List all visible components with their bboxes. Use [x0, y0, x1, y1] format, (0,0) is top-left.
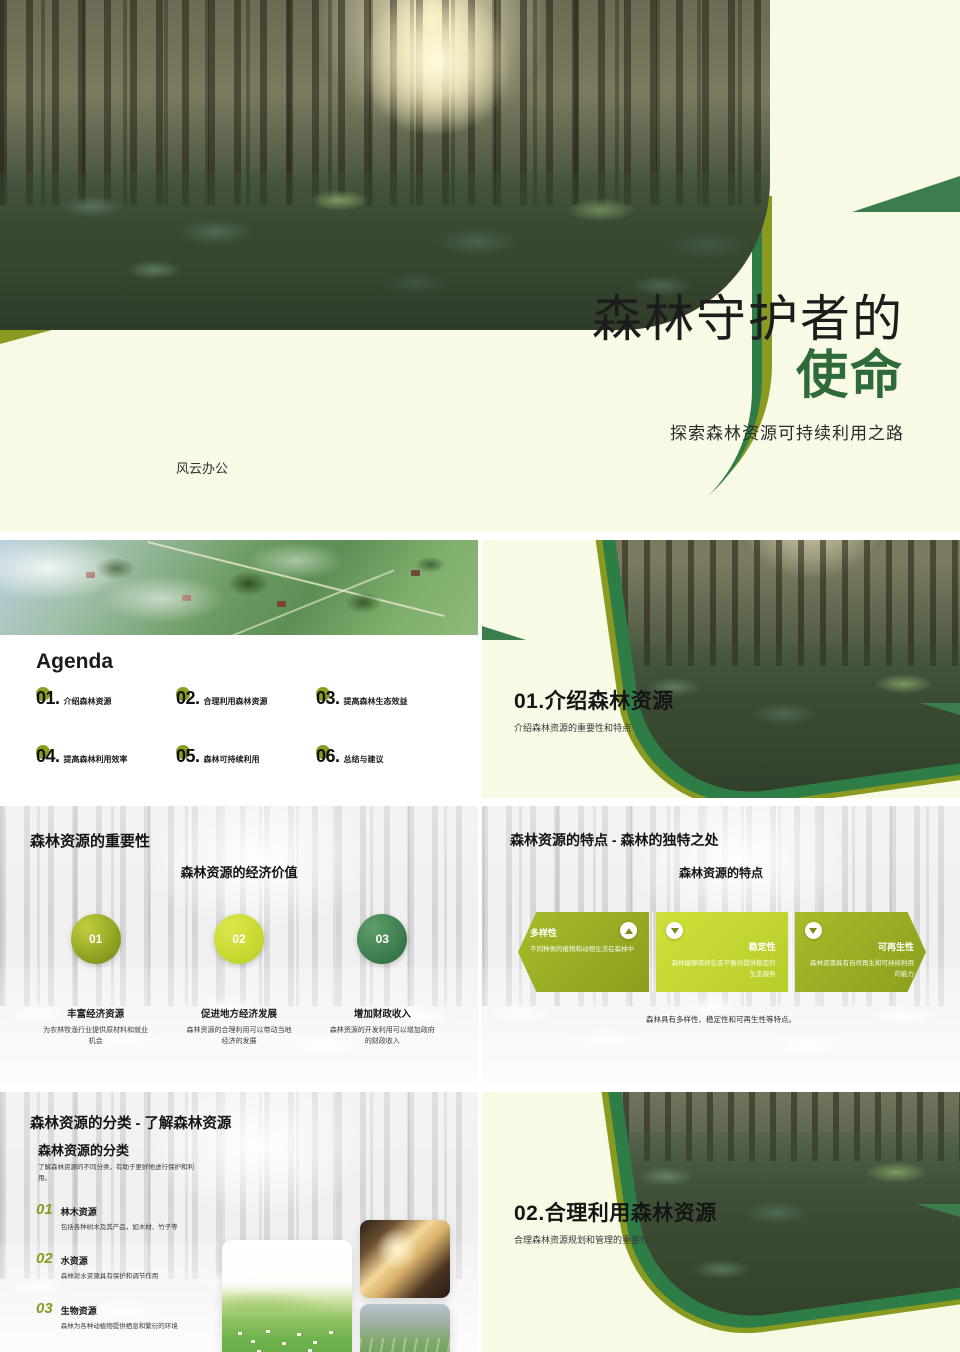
agenda-item-05[interactable]: 05. 森林可持续利用	[176, 746, 316, 767]
house-marker	[182, 595, 191, 601]
section-heading-block: 02.合理利用森林资源 合理森林资源规划和管理的重要性	[514, 1200, 734, 1246]
importance-card-01[interactable]: 01 丰富经济资源 为农林牧渔行业提供原材料和就业机会	[24, 914, 167, 1047]
agenda-item-number: 03.	[316, 688, 340, 709]
card-title: 增加财政收入	[311, 1006, 454, 1020]
chevron-title: 可再生性	[807, 940, 914, 953]
arrow-down-icon	[666, 922, 683, 939]
harvest-sunset-photo	[360, 1220, 450, 1298]
agenda-item-label: 总结与建议	[344, 754, 384, 765]
agenda-item-label: 提高森林生态效益	[344, 696, 408, 707]
classification-item-03[interactable]: 03 生物资源 森林为各种动植物提供栖息和繁衍的环境	[36, 1301, 226, 1332]
characteristics-chevron-row: 多样性 不同种类的植物和动物生活在森林中 稳定性 森林能够保持生态平衡并提供稳定…	[518, 912, 926, 992]
card-description: 为农林牧渔行业提供原材料和就业机会	[24, 1025, 167, 1047]
classification-item-01[interactable]: 01 林木资源 包括各种树木及其产品，如木材、竹子等	[36, 1202, 226, 1233]
item-number: 02	[36, 1251, 53, 1282]
chevron-description: 森林资源具有自然再生和可持续利用的能力	[807, 958, 914, 980]
chevron-renewability[interactable]: 可再生性 森林资源具有自然再生和可持续利用的能力	[795, 912, 926, 992]
agenda-item-label: 介绍森林资源	[64, 696, 112, 707]
item-description: 包括各种树木及其产品，如木材、竹子等	[61, 1223, 178, 1233]
slide-deck: 风云办公 森林守护者的 使命 探索森林资源可持续利用之路 风云办公 Agenda…	[0, 0, 960, 1352]
card-description: 森林资源的合理利用可以带动当地经济的发展	[167, 1025, 310, 1047]
chevron-diversity[interactable]: 多样性 不同种类的植物和动物生活在森林中	[518, 912, 649, 992]
agenda-item-01[interactable]: 01. 介绍森林资源	[36, 688, 176, 709]
forest-hero-photo	[0, 0, 770, 330]
house-marker	[277, 601, 286, 607]
house-marker	[411, 570, 420, 576]
chevron-stability[interactable]: 稳定性 森林能够保持生态平衡并提供稳定的生态服务	[656, 912, 787, 992]
section-subtitle: 介绍森林资源的重要性和特点	[514, 721, 674, 734]
item-description: 森林为各种动植物提供栖息和繁衍的环境	[61, 1322, 178, 1332]
card-number-circle: 01	[71, 914, 121, 964]
agenda-item-number: 01.	[36, 688, 60, 709]
slide-forest-classification: 森林资源的分类 - 了解森林资源 森林资源的分类 了解森林资源的不同分类，有助于…	[0, 1092, 478, 1352]
card-title: 促进地方经济发展	[167, 1006, 310, 1020]
forest-photo-inner	[0, 0, 770, 330]
characteristics-heading: 森林资源的特点 - 森林的独特之处	[510, 830, 718, 850]
chevron-description: 森林能够保持生态平衡并提供稳定的生态服务	[668, 958, 775, 980]
agenda-heading: Agenda	[36, 650, 113, 674]
section-heading-block: 01.介绍森林资源 介绍森林资源的重要性和特点	[514, 688, 674, 734]
item-number: 01	[36, 1202, 53, 1233]
agenda-item-number: 06.	[316, 746, 340, 767]
slide-title: 风云办公 森林守护者的 使命 探索森林资源可持续利用之路 风云办公	[0, 0, 960, 532]
card-number-circle: 02	[214, 914, 264, 964]
forest-photo-inner	[611, 540, 960, 798]
chevron-description: 不同种类的植物和动物生活在森林中	[530, 944, 637, 955]
green-triangle-accent	[852, 176, 960, 212]
item-title: 水资源	[61, 1256, 88, 1266]
card-number-circle: 03	[357, 914, 407, 964]
section-subtitle: 合理森林资源规划和管理的重要性	[514, 1233, 734, 1246]
green-triangle-right	[920, 703, 960, 715]
classification-item-02[interactable]: 02 水资源 森林对水资源具有保护和调节作用	[36, 1251, 226, 1282]
title-author: 风云办公	[176, 458, 228, 477]
slide-agenda: Agenda 01. 介绍森林资源 02. 合理利用森林资源 03. 提高森林生…	[0, 540, 478, 798]
chevron-divider	[791, 912, 792, 992]
road-line-2	[217, 569, 395, 635]
slide-section-01: 01.介绍森林资源 介绍森林资源的重要性和特点	[482, 540, 960, 798]
agenda-item-label: 森林可持续利用	[204, 754, 260, 765]
title-line-1: 森林守护者的	[592, 292, 904, 347]
item-title: 生物资源	[61, 1306, 97, 1316]
item-number: 03	[36, 1301, 53, 1332]
arrow-down-glyph	[809, 928, 817, 934]
agenda-item-label: 合理利用森林资源	[204, 696, 268, 707]
slide-forest-importance: 森林资源的重要性 森林资源的经济价值 01 丰富经济资源 为农林牧渔行业提供原材…	[0, 806, 478, 1084]
arrow-down-icon	[805, 922, 822, 939]
item-text-block: 水资源 森林对水资源具有保护和调节作用	[61, 1251, 159, 1282]
importance-card-02[interactable]: 02 促进地方经济发展 森林资源的合理利用可以带动当地经济的发展	[167, 914, 310, 1047]
classification-list: 01 林木资源 包括各种树木及其产品，如木材、竹子等 02 水资源 森林对水资源…	[36, 1202, 226, 1350]
importance-card-03[interactable]: 03 增加财政收入 森林资源的开发利用可以增加政府的财政收入	[311, 914, 454, 1047]
terraced-field-photo	[360, 1304, 450, 1352]
arrow-down-glyph	[671, 928, 679, 934]
aerial-village-photo	[0, 540, 478, 635]
item-text-block: 生物资源 森林为各种动植物提供栖息和繁衍的环境	[61, 1301, 178, 1332]
agenda-item-03[interactable]: 03. 提高森林生态效益	[316, 688, 456, 709]
grassland-sheep-photo	[222, 1240, 352, 1352]
importance-heading: 森林资源的重要性	[30, 830, 150, 851]
card-description: 森林资源的开发利用可以增加政府的财政收入	[311, 1025, 454, 1047]
title-line-2: 使命	[592, 347, 904, 407]
section-title: 02.合理利用森林资源	[514, 1200, 734, 1227]
title-subtitle: 探索森林资源可持续利用之路	[592, 419, 904, 444]
classification-description: 了解森林资源的不同分类，有助于更好地进行保护和利用。	[38, 1162, 198, 1184]
importance-subheading: 森林资源的经济价值	[0, 862, 478, 881]
chevron-divider	[652, 912, 653, 992]
chevron-title: 稳定性	[668, 940, 775, 953]
agenda-item-04[interactable]: 04. 提高森林利用效率	[36, 746, 176, 767]
section-title: 01.介绍森林资源	[514, 688, 674, 715]
classification-subheading: 森林资源的分类	[38, 1140, 129, 1159]
slide-section-02: 02.合理利用森林资源 合理森林资源规划和管理的重要性	[482, 1092, 960, 1352]
agenda-item-02[interactable]: 02. 合理利用森林资源	[176, 688, 316, 709]
forest-section-photo	[611, 540, 960, 798]
classification-heading: 森林资源的分类 - 了解森林资源	[30, 1112, 231, 1133]
card-title: 丰富经济资源	[24, 1006, 167, 1020]
house-marker	[86, 572, 95, 578]
agenda-item-06[interactable]: 06. 总结与建议	[316, 746, 456, 767]
green-triangle-left	[482, 626, 526, 640]
agenda-list: 01. 介绍森林资源 02. 合理利用森林资源 03. 提高森林生态效益 04.…	[36, 688, 456, 767]
item-description: 森林对水资源具有保护和调节作用	[61, 1272, 159, 1282]
characteristics-subheading: 森林资源的特点	[482, 864, 960, 881]
item-text-block: 林木资源 包括各种树木及其产品，如木材、竹子等	[61, 1202, 178, 1233]
slide-forest-characteristics: 森林资源的特点 - 森林的独特之处 森林资源的特点 多样性 不同种类的植物和动物…	[482, 806, 960, 1084]
olive-triangle-accent	[0, 330, 52, 344]
characteristics-footnote: 森林具有多样性、稳定性和可再生性等特点。	[482, 1014, 960, 1025]
arrow-up-glyph	[625, 928, 633, 934]
green-triangle-right	[916, 1204, 960, 1217]
agenda-item-number: 04.	[36, 746, 60, 767]
title-text-block: 森林守护者的 使命 探索森林资源可持续利用之路	[592, 292, 904, 444]
item-title: 林木资源	[61, 1207, 97, 1217]
importance-card-row: 01 丰富经济资源 为农林牧渔行业提供原材料和就业机会 02 促进地方经济发展 …	[24, 914, 454, 1047]
agenda-item-label: 提高森林利用效率	[64, 754, 128, 765]
agenda-item-number: 02.	[176, 688, 200, 709]
agenda-item-number: 05.	[176, 746, 200, 767]
road-line-1	[148, 541, 445, 617]
